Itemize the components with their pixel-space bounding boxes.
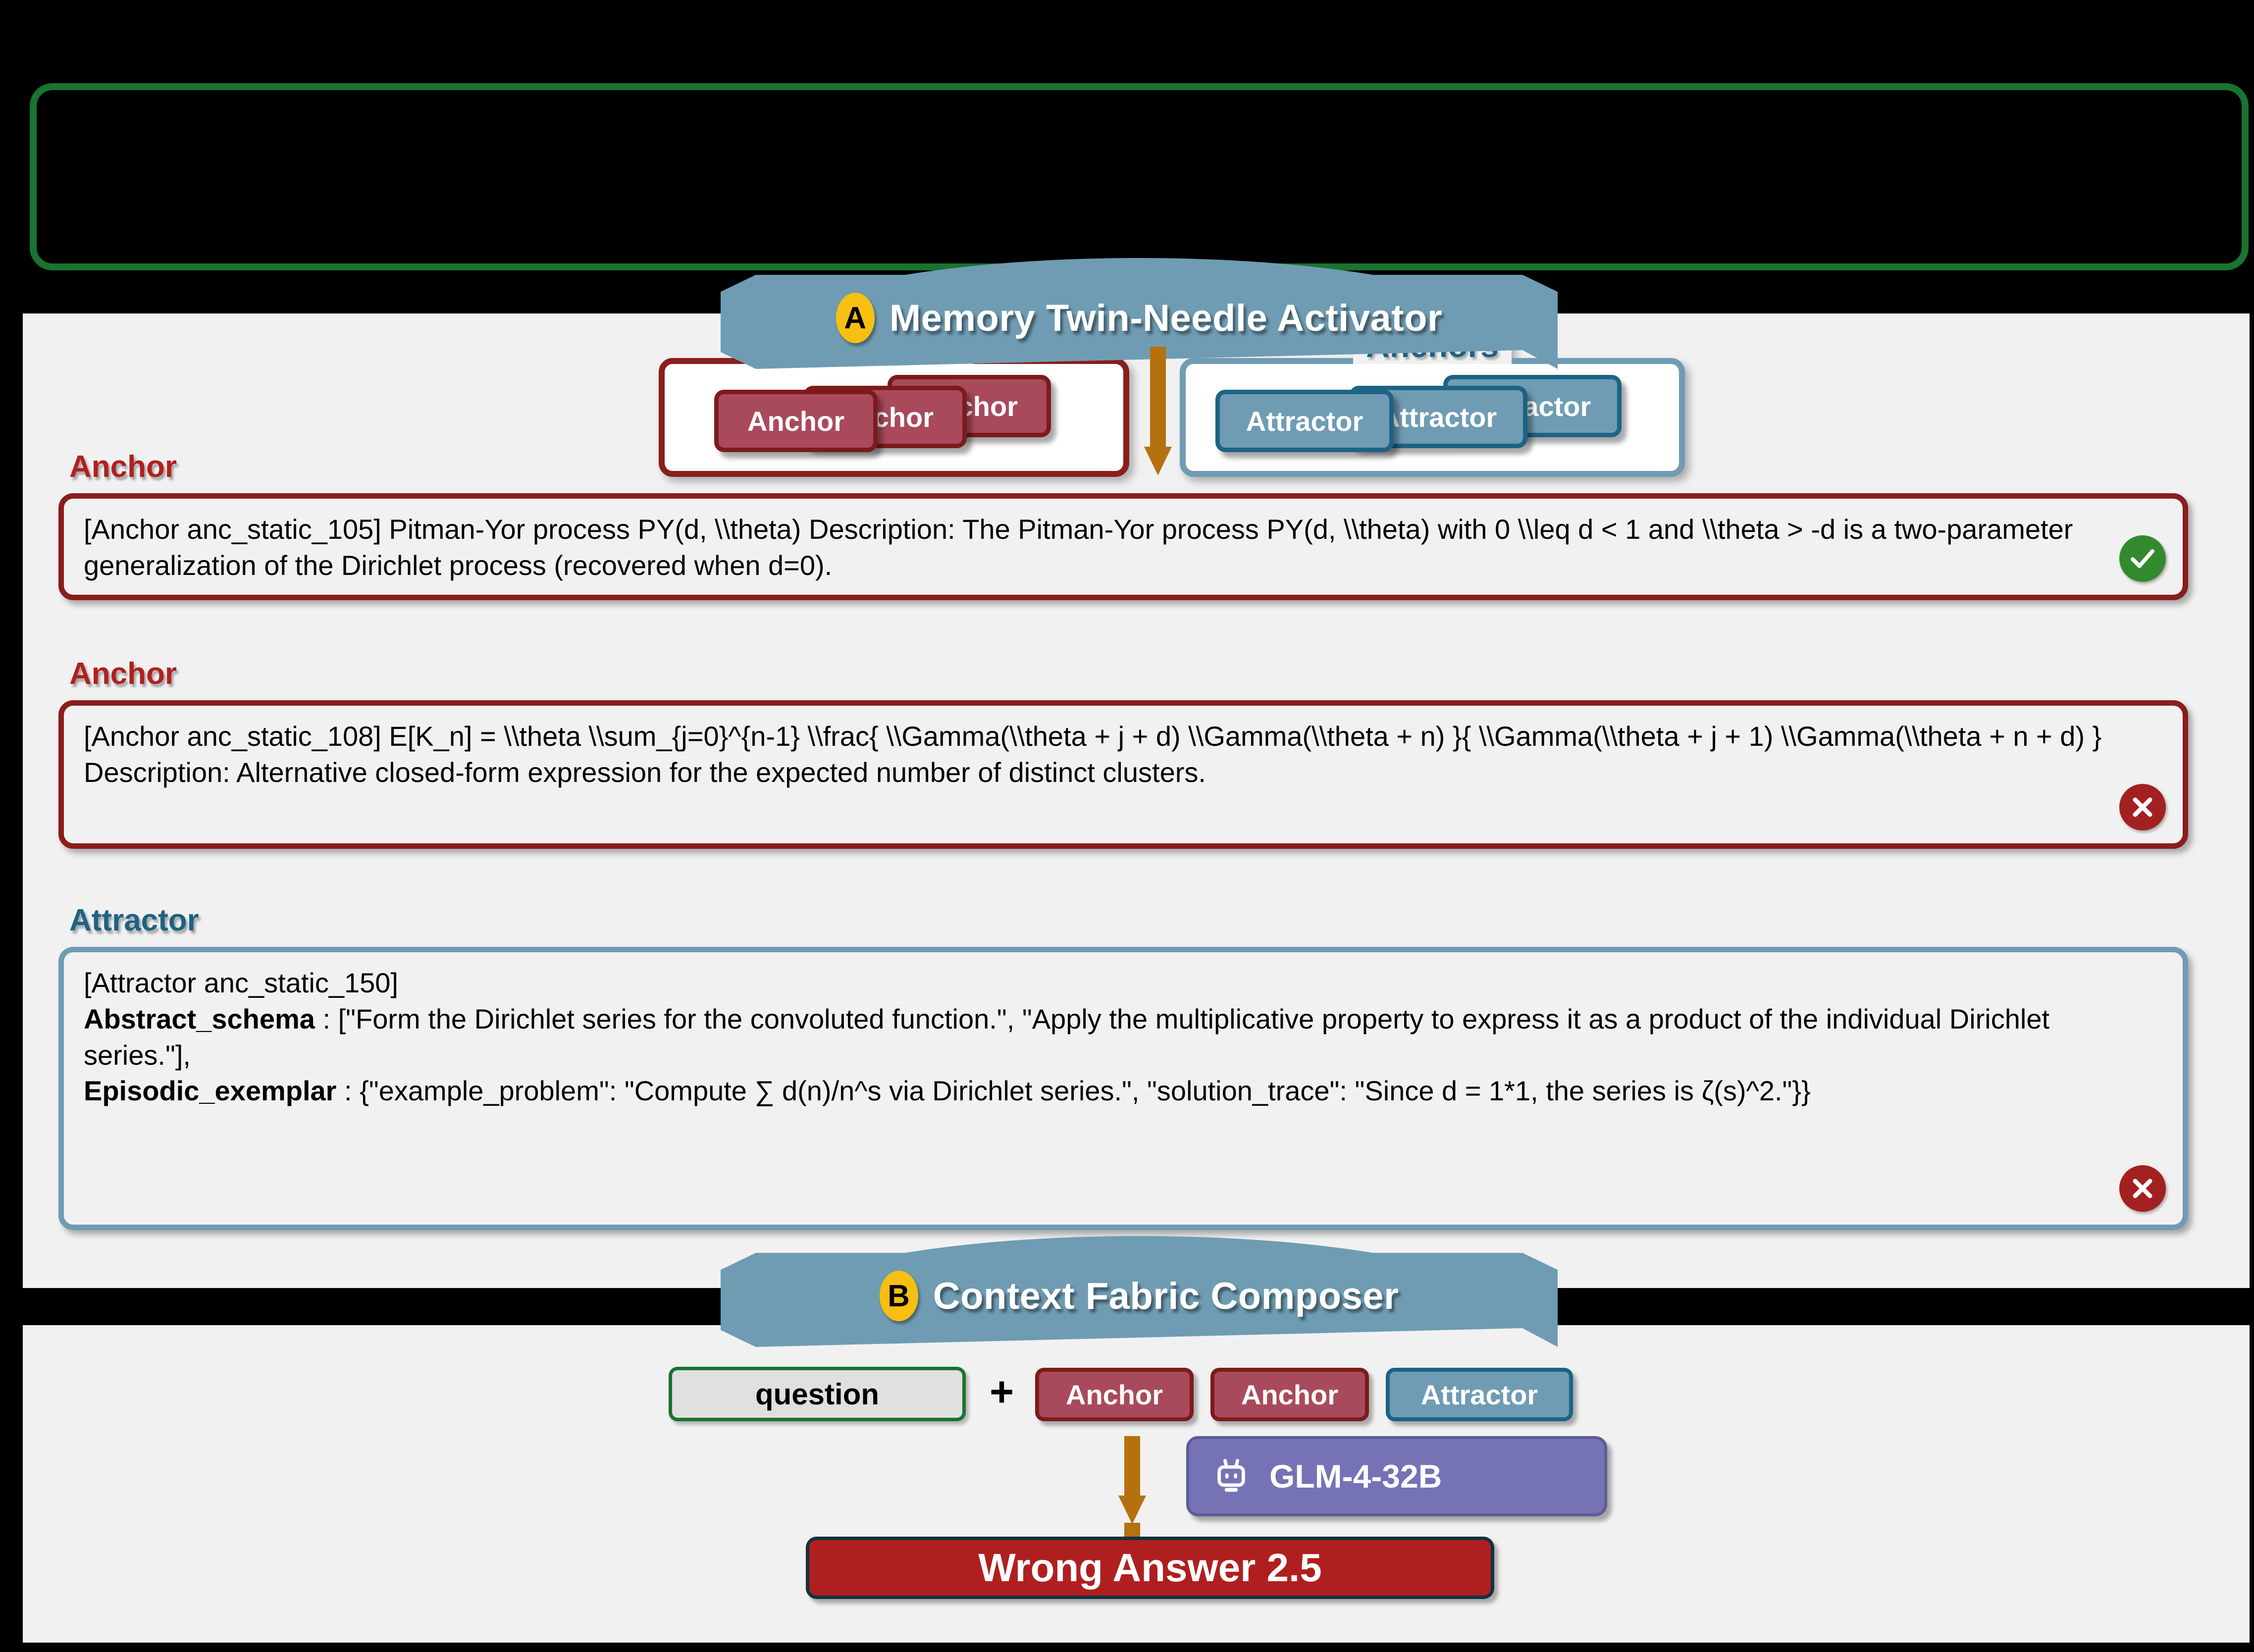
model-badge[interactable]: GLM-4-32B — [1186, 1436, 1607, 1516]
cross-icon — [2119, 784, 2166, 830]
model-name: GLM-4-32B — [1269, 1457, 1442, 1495]
flow-arrow-b — [1118, 1436, 1146, 1524]
stage-letter-badge: A — [836, 293, 875, 343]
banner-label-row: A Memory Twin-Needle Activator — [721, 271, 1558, 365]
anchor-card-1-text: [Anchor anc_static_105] Pitman-Yor proce… — [64, 499, 2183, 596]
stage-letter-badge: B — [880, 1271, 918, 1321]
check-icon — [2119, 535, 2166, 582]
attractor-chip-stack: Attractor Attractor Attractor — [1186, 364, 1679, 471]
attractor-card: [Attractor anc_static_150] Abstract_sche… — [58, 947, 2188, 1230]
composer-tag-anchor-2[interactable]: Anchor — [1210, 1368, 1369, 1421]
attractor-id-line: [Attractor anc_static_150] — [84, 965, 2123, 1001]
record-label-anchor-2: Anchor — [69, 659, 177, 689]
top-empty-frame — [30, 83, 2249, 270]
episodic-exemplar-line: Episodic_exemplar : {"example_problem": … — [84, 1073, 2123, 1109]
plus-sign: + — [990, 1371, 1014, 1412]
stage-a-banner: A Memory Twin-Needle Activator — [721, 275, 1558, 369]
attractor-chip[interactable]: Attractor — [1215, 390, 1394, 452]
episodic-exemplar-key: Episodic_exemplar — [84, 1075, 336, 1106]
anchor-card-2: [Anchor anc_static_108] E[K_n] = \\theta… — [58, 700, 2188, 849]
question-label: question — [755, 1377, 879, 1411]
abstract-schema-line: Abstract_schema : ["Form the Dirichlet s… — [84, 1001, 2123, 1074]
abstract-schema-value: : ["Form the Dirichlet series for the co… — [84, 1003, 2049, 1071]
stage-b-banner: B Context Fabric Composer — [721, 1253, 1558, 1347]
question-box[interactable]: question — [669, 1367, 966, 1421]
attractors-group-box: Anchors Attractor Attractor Attractor — [1180, 358, 1685, 477]
composer-tag-anchor-1[interactable]: Anchor — [1035, 1368, 1194, 1421]
attractor-card-text: [Attractor anc_static_150] Abstract_sche… — [64, 952, 2183, 1121]
anchor-card-1: [Anchor anc_static_105] Pitman-Yor proce… — [58, 493, 2188, 600]
wrong-answer-text: Wrong Answer 2.5 — [978, 1545, 1321, 1591]
diagram-canvas: Anchors Anchor Anchor Anchor Anchors Att… — [0, 0, 2254, 1652]
banner-label-row: B Context Fabric Composer — [721, 1249, 1558, 1343]
wrong-answer-box: Wrong Answer 2.5 — [806, 1537, 1494, 1599]
abstract-schema-key: Abstract_schema — [84, 1003, 315, 1034]
record-label-anchor-1: Anchor — [69, 452, 177, 482]
anchor-card-2-text: [Anchor anc_static_108] E[K_n] = \\theta… — [64, 706, 2183, 803]
flow-arrow-a — [1144, 347, 1172, 475]
anchors-group-box: Anchors Anchor Anchor Anchor — [659, 358, 1129, 477]
record-label-attractor: Attractor — [69, 905, 199, 936]
composer-tag-attractor[interactable]: Attractor — [1386, 1368, 1573, 1421]
stage-a-title: Memory Twin-Needle Activator — [890, 297, 1442, 340]
stage-b-title: Context Fabric Composer — [933, 1275, 1399, 1318]
cross-icon — [2119, 1165, 2166, 1212]
robot-icon — [1210, 1455, 1253, 1497]
anchor-chip[interactable]: Anchor — [714, 390, 878, 452]
episodic-exemplar-value: : {"example_problem": "Compute ∑ d(n)/n^… — [336, 1075, 1810, 1106]
anchor-chip-stack: Anchor Anchor Anchor — [665, 364, 1123, 471]
